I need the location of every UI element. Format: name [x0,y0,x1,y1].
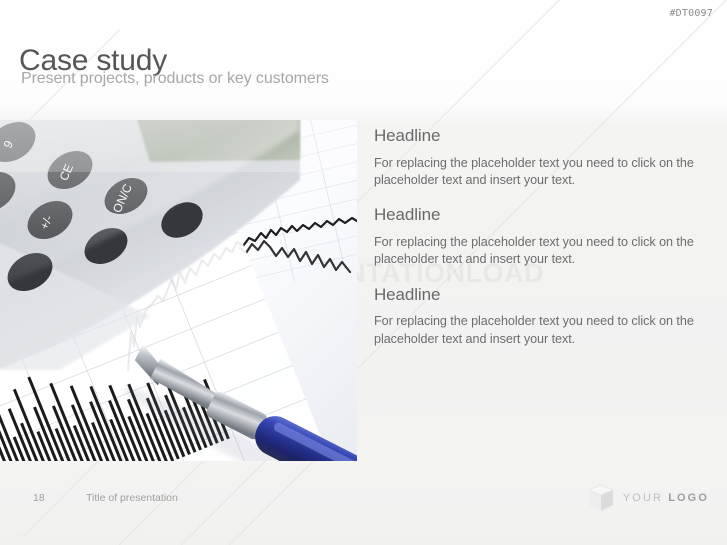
content-block: Headline For replacing the placeholder t… [374,285,707,348]
logo-word-logo: LOGO [668,492,709,504]
block-body[interactable]: For replacing the placeholder text you n… [374,155,707,190]
page-subtitle: Present projects, products or key custom… [21,70,329,88]
logo[interactable]: YOUR LOGO [588,484,709,512]
presentation-title: Title of presentation [86,492,178,504]
content-block: Headline For replacing the placeholder t… [374,205,707,268]
block-headline[interactable]: Headline [374,205,707,225]
content-column: Headline For replacing the placeholder t… [374,126,707,348]
block-body[interactable]: For replacing the placeholder text you n… [374,234,707,269]
block-headline[interactable]: Headline [374,285,707,305]
content-block: Headline For replacing the placeholder t… [374,126,707,189]
block-headline[interactable]: Headline [374,126,707,146]
block-body[interactable]: For replacing the placeholder text you n… [374,313,707,348]
logo-word-your: YOUR [623,492,663,504]
slide-canvas: #DT0097 Case study Present projects, pro… [0,0,727,545]
document-code: #DT0097 [669,8,713,19]
page-number: 18 [33,492,45,504]
case-study-photo[interactable]: 13-02 27-02 13-03 27-03 10-04 24-04 08-0… [0,120,357,461]
logo-text: YOUR LOGO [623,492,709,504]
slide-footer: 18 Title of presentation YOUR LOGO [0,467,727,545]
cube-icon [588,484,614,512]
